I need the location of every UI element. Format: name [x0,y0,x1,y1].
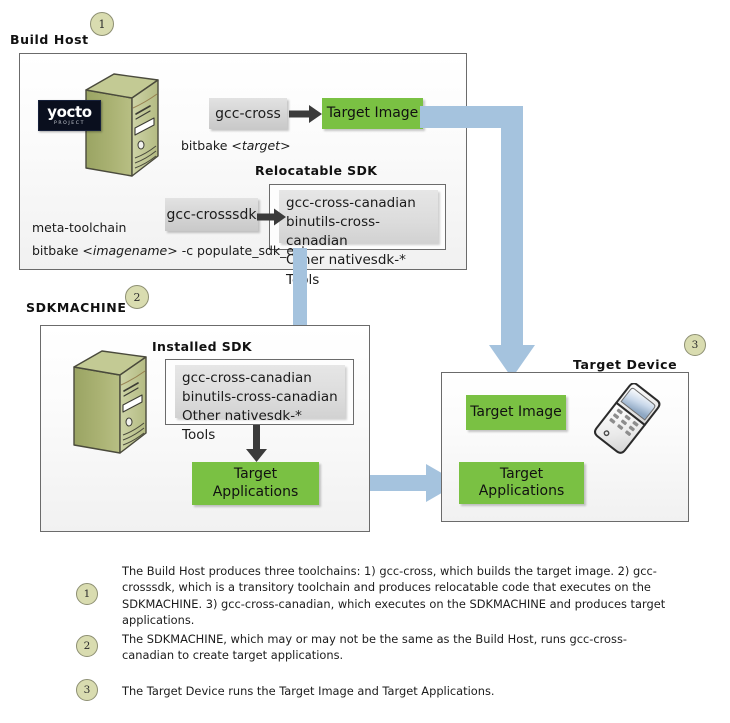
meta-toolchain-label: meta-toolchain [32,220,126,235]
target-device-target-image-box: Target Image [466,395,566,430]
target-device-target-applications-box: Target Applications [459,462,584,504]
mobile-phone-icon [589,383,665,457]
installed-sdk-item-1: gcc-cross-canadian [182,369,338,388]
installed-sdk-label: Installed SDK [152,339,252,354]
yocto-project-logo: yocto PROJECT [38,100,101,131]
gcc-crosssdk-box: gcc-crosssdk [165,198,258,231]
installed-sdk-to-apps-arrow [246,425,268,463]
target-device-title: Target Device [573,357,677,372]
target-device-apps-line2: Applications [479,483,565,499]
sdkmachine-target-applications-box: Target Applications [192,462,319,505]
sdkmachine-computer-icon [58,345,158,455]
relocatable-sdk-contents: gcc-cross-canadian binutils-cross-canadi… [279,190,438,243]
relocatable-sdk-item-2: binutils-cross-canadian [286,213,431,251]
yocto-logo-subtitle: PROJECT [54,122,85,127]
legend-badge-2: 2 [76,635,98,657]
sdkmachine-title: SDKMACHINE [26,300,126,315]
relocatable-sdk-item-1: gcc-cross-canadian [286,194,431,213]
relocatable-sdk-label: Relocatable SDK [255,163,377,178]
sdkmachine-apps-line1: Target [234,466,277,482]
target-device-apps-line1: Target [500,466,543,482]
legend-text-2: The SDKMACHINE, which may or may not be … [122,631,668,664]
gcc-crosssdk-to-sdk-arrow [257,208,287,226]
bitbake-target-label: bitbake <target> [181,138,291,153]
gcc-cross-box: gcc-cross [209,98,287,129]
build-host-title: Build Host [10,32,89,47]
bitbake-populate-sdk-label: bitbake <imagename> -c populate_sdk_ext [32,243,306,258]
build-host-target-image-box: Target Image [322,98,423,129]
target-device-badge: 3 [684,334,706,356]
installed-sdk-contents: gcc-cross-canadian binutils-cross-canadi… [175,365,345,418]
legend-text-1: The Build Host produces three toolchains… [122,563,668,629]
target-image-to-device-blue-arrow [420,100,550,390]
sdkmachine-apps-line2: Applications [213,484,299,500]
build-host-badge: 1 [90,12,114,36]
sdkmachine-badge: 2 [125,285,149,309]
legend-badge-3: 3 [76,679,98,701]
legend-badge-1: 1 [76,583,98,605]
yocto-logo-word: yocto [47,105,91,120]
legend-text-3: The Target Device runs the Target Image … [122,683,668,699]
installed-sdk-item-2: binutils-cross-canadian [182,388,338,407]
gcc-cross-to-target-image-arrow [289,104,323,124]
